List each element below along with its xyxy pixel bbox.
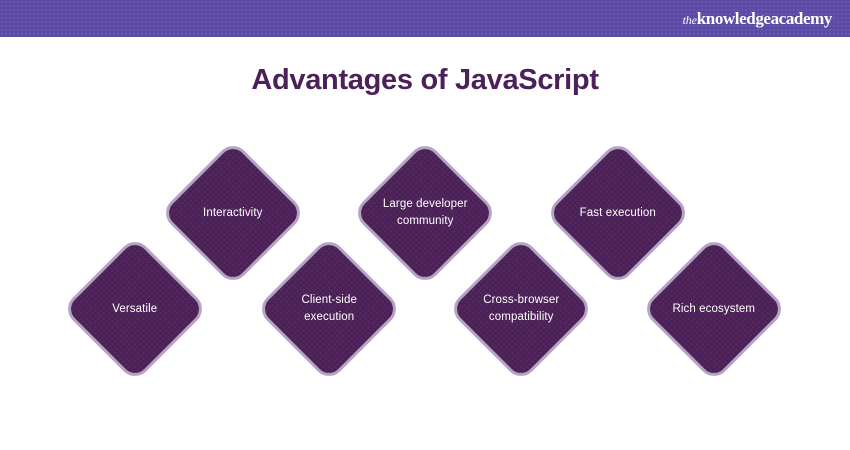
diamond-label: Interactivity [184, 205, 282, 222]
diamond-label: Versatile [86, 301, 184, 318]
diamond-label: Large developer community [376, 196, 474, 229]
diamond-node-cross-browser-compatibility[interactable]: Cross-browser compatibility [447, 235, 594, 382]
diamond-node-rich-ecosystem[interactable]: Rich ecosystem [640, 235, 787, 382]
diamond-label: Client-side execution [280, 292, 378, 325]
diamond-node-client-side-execution[interactable]: Client-side execution [255, 235, 402, 382]
diamond-label: Fast execution [569, 205, 667, 222]
diamond-node-fast-execution[interactable]: Fast execution [544, 139, 691, 286]
advantages-diamond-diagram: Versatile Interactivity Client-side exec… [0, 0, 850, 450]
diamond-node-interactivity[interactable]: Interactivity [159, 139, 306, 286]
diamond-node-large-developer-community[interactable]: Large developer community [351, 139, 498, 286]
diamond-label: Rich ecosystem [665, 301, 763, 318]
diamond-node-versatile[interactable]: Versatile [61, 235, 208, 382]
diamond-label: Cross-browser compatibility [472, 292, 570, 325]
